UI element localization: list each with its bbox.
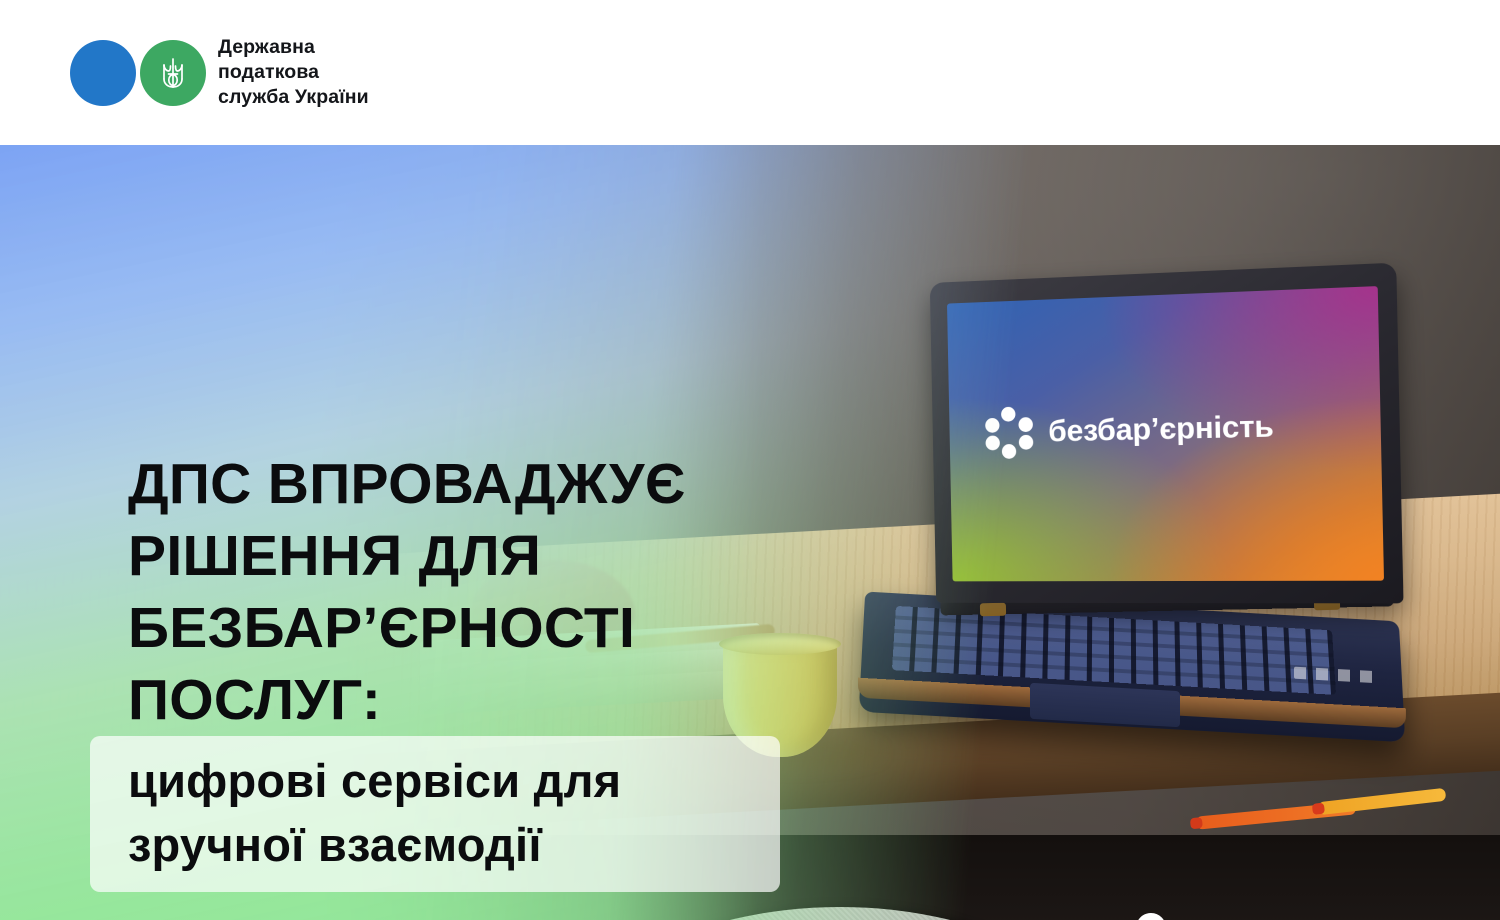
header-bar: Державна податкова служба України [0,0,1500,145]
accessibility-dots-icon [1105,913,1197,920]
screen-brand-logo: безбар’єрність [984,400,1274,458]
laptop-screen: безбар’єрність [947,286,1384,581]
laptop: безбар’єрність [862,273,1402,773]
logo-circle-blue-icon [70,40,136,106]
marker-tip [1312,803,1325,815]
screen-brand-label: безбар’єрність [1048,409,1274,450]
laptop-lid: безбар’єрність [930,263,1404,604]
laptop-hinge-left [980,603,1006,617]
digital-accessibility-badge: цифрова безбар’єрність [1105,913,1470,920]
hero-photo: безбар’єрність ДПС ВПРОВАДЖУЄ РІШЕННЯ ДЛ… [0,145,1500,920]
ukraine-trident-icon [158,54,188,92]
dps-logo [70,40,200,106]
org-name-label: Державна податкова служба України [218,35,369,110]
marker-tip [1190,817,1203,829]
logo-circle-green-icon [140,40,206,106]
poster-canvas: Державна податкова служба України [0,0,1500,920]
page-title: ДПС ВПРОВАДЖУЄ РІШЕННЯ ДЛЯ БЕЗБАР’ЄРНОСТ… [128,448,828,736]
page-subtitle: цифрові сервіси для зручної взаємодії [128,749,788,877]
bezbariernist-dots-icon [984,407,1035,459]
